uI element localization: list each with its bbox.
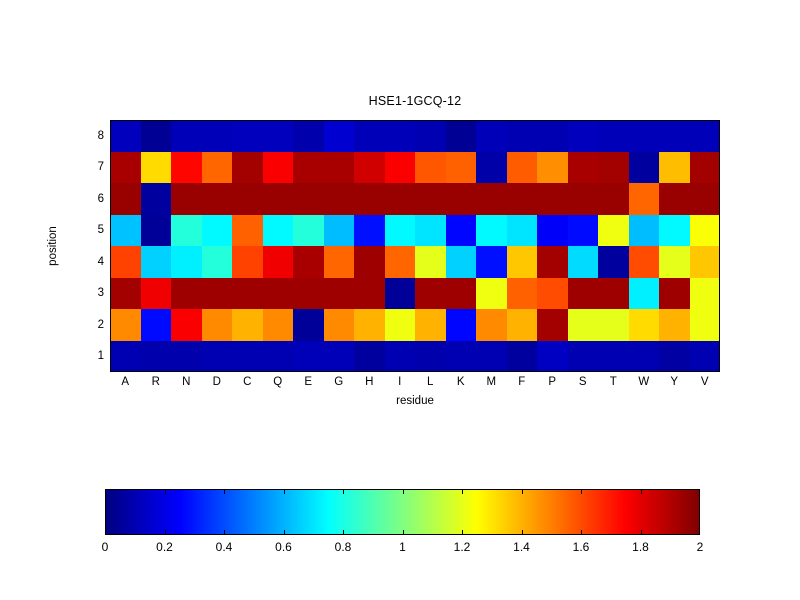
heatmap-cell [141,183,172,215]
heatmap-cell [354,215,385,247]
y-tick-label: 7 [84,161,104,173]
heatmap-cell [385,278,416,310]
heatmap-cell [232,341,263,373]
heatmap-cell [690,278,721,310]
heatmap-cell [629,341,660,373]
heatmap-cell [568,246,599,278]
heatmap-cell [263,278,294,310]
heatmap-cell [293,183,324,215]
y-tick-label: 2 [84,319,104,331]
heatmap-cell [171,120,202,152]
heatmap-cell [690,246,721,278]
heatmap-cell [110,341,141,373]
heatmap-cell [568,183,599,215]
x-tick-label: L [415,376,446,392]
x-tick-label: P [537,376,568,392]
heatmap-cell [598,278,629,310]
heatmap-cell [385,215,416,247]
colorbar-tick-label: 0 [102,540,109,554]
x-tick-label: H [354,376,385,392]
x-tick-label: C [232,376,263,392]
chart-title: HSE1-1GCQ-12 [110,94,720,108]
heatmap-cell [598,120,629,152]
heatmap-cell [385,152,416,184]
heatmap-cell [232,120,263,152]
heatmap-cell [629,215,660,247]
heatmap-cell [659,341,690,373]
heatmap-cell [263,215,294,247]
heatmap-cell [598,341,629,373]
y-tick-label: 8 [84,130,104,142]
heatmap-cell [476,341,507,373]
x-tick-label: E [293,376,324,392]
heatmap-cell [537,120,568,152]
colorbar-tick-label: 1.2 [454,540,471,554]
heatmap-cell [476,215,507,247]
y-tick-label: 3 [84,287,104,299]
heatmap-cell [446,152,477,184]
heatmap-cell [659,215,690,247]
heatmap-cell [476,278,507,310]
heatmap-cell [629,309,660,341]
heatmap-cell [629,246,660,278]
x-tick-label: M [476,376,507,392]
heatmap-cell [293,246,324,278]
heatmap-cell [507,278,538,310]
heatmap-cell [385,183,416,215]
heatmap-cell [232,183,263,215]
heatmap-cell [537,152,568,184]
x-tick-label: A [110,376,141,392]
heatmap-cell [202,120,233,152]
heatmap-cell [598,246,629,278]
heatmap-cell [476,183,507,215]
heatmap-cell [446,183,477,215]
heatmap-cell [293,341,324,373]
colorbar-tick-label: 2 [697,540,704,554]
heatmap-cell [446,309,477,341]
heatmap-cell [659,120,690,152]
heatmap-cell [659,183,690,215]
heatmap-cell [415,120,446,152]
heatmap-cell [141,215,172,247]
heatmap-cell [232,152,263,184]
heatmap-cell [202,278,233,310]
heatmap-cell [385,120,416,152]
heatmap-cell [507,215,538,247]
x-tick-label: R [141,376,172,392]
heatmap-cell [202,309,233,341]
heatmap-cell [537,278,568,310]
heatmap-cell [324,341,355,373]
heatmap-cell [354,183,385,215]
heatmap-cell [415,183,446,215]
heatmap-cell [690,309,721,341]
heatmap-cell [507,183,538,215]
heatmap-cell [141,341,172,373]
heatmap-cell [629,152,660,184]
heatmap-cell [415,215,446,247]
heatmap-cell [263,183,294,215]
heatmap-cell [385,309,416,341]
heatmap-cell [171,309,202,341]
heatmap-cell [293,120,324,152]
heatmap-cell [171,215,202,247]
heatmap-cell [446,246,477,278]
y-tick-label: 1 [84,350,104,362]
heatmap-cell [202,215,233,247]
x-tick-label: I [385,376,416,392]
heatmap-cell [537,309,568,341]
heatmap-cell [324,215,355,247]
heatmap-cell [293,215,324,247]
heatmap-grid [110,120,720,372]
heatmap-cell [324,309,355,341]
heatmap-cell [263,341,294,373]
heatmap-cell [293,152,324,184]
heatmap-cell [598,152,629,184]
heatmap-cell [568,278,599,310]
y-tick-label: 5 [84,224,104,236]
heatmap-cell [293,278,324,310]
heatmap-cell [659,246,690,278]
heatmap-cell [629,183,660,215]
heatmap-cell [110,120,141,152]
colorbar[interactable] [105,489,700,535]
heatmap-cell [202,183,233,215]
colorbar-tick-label: 1 [399,540,406,554]
heatmap-cell [415,246,446,278]
heatmap-cell [171,183,202,215]
x-tick-label: V [690,376,721,392]
heatmap-cell [690,152,721,184]
colorbar-gradient [105,489,700,535]
x-tick-label: N [171,376,202,392]
heatmap-cell [110,309,141,341]
heatmap-cell [202,341,233,373]
heatmap-cell [690,215,721,247]
heatmap-cell [263,120,294,152]
heatmap-cell [232,246,263,278]
heatmap-cell [415,152,446,184]
heatmap-cell [446,215,477,247]
heatmap-cell [141,152,172,184]
heatmap-cell [446,341,477,373]
x-tick-label: D [202,376,233,392]
heatmap-cell [537,341,568,373]
colorbar-tick-label: 0.2 [156,540,173,554]
heatmap-cell [446,278,477,310]
heatmap-cell [141,120,172,152]
heatmap[interactable] [110,120,720,372]
heatmap-cell [507,341,538,373]
heatmap-cell [324,183,355,215]
heatmap-cell [232,309,263,341]
heatmap-cell [415,341,446,373]
x-tick-label: K [446,376,477,392]
x-tick-label: W [629,376,660,392]
heatmap-cell [507,152,538,184]
heatmap-cell [659,152,690,184]
heatmap-cell [568,215,599,247]
heatmap-cell [171,246,202,278]
y-axis-label: position [47,226,59,266]
heatmap-cell [354,246,385,278]
heatmap-cell [385,246,416,278]
heatmap-cell [263,246,294,278]
y-tick-label: 4 [84,256,104,268]
y-tick-label: 6 [84,193,104,205]
heatmap-cell [110,278,141,310]
heatmap-cell [598,215,629,247]
heatmap-cell [507,309,538,341]
heatmap-cell [202,152,233,184]
heatmap-cell [232,215,263,247]
heatmap-cell [598,309,629,341]
heatmap-cell [354,341,385,373]
colorbar-tick-label: 1.6 [573,540,590,554]
heatmap-cell [568,152,599,184]
heatmap-cell [690,341,721,373]
heatmap-cell [141,309,172,341]
heatmap-cell [324,120,355,152]
heatmap-cell [537,215,568,247]
heatmap-cell [110,183,141,215]
heatmap-cell [690,120,721,152]
colorbar-tick-label: 0.4 [216,540,233,554]
heatmap-cell [537,246,568,278]
heatmap-cell [659,309,690,341]
heatmap-cell [446,120,477,152]
heatmap-cell [354,278,385,310]
x-tick-label: G [324,376,355,392]
heatmap-cell [110,215,141,247]
x-axis-ticks: ARNDCQEGHILKMFPSTWYV [110,376,720,392]
x-tick-label: Y [659,376,690,392]
heatmap-cell [354,120,385,152]
heatmap-cell [354,309,385,341]
heatmap-cell [171,152,202,184]
heatmap-cell [476,309,507,341]
heatmap-cell [629,278,660,310]
heatmap-cell [568,341,599,373]
heatmap-cell [324,246,355,278]
heatmap-cell [629,120,660,152]
figure-canvas: HSE1-1GCQ-12 position 87654321 ARNDCQEGH… [0,0,800,600]
colorbar-tick-label: 1.8 [632,540,649,554]
x-tick-label: T [598,376,629,392]
heatmap-cell [293,309,324,341]
heatmap-cell [263,152,294,184]
heatmap-cell [324,278,355,310]
heatmap-cell [568,120,599,152]
colorbar-tick-label: 1.4 [513,540,530,554]
heatmap-cell [324,152,355,184]
heatmap-cell [415,309,446,341]
heatmap-cell [690,183,721,215]
heatmap-cell [354,152,385,184]
heatmap-cell [171,341,202,373]
heatmap-cell [659,278,690,310]
heatmap-cell [202,246,233,278]
heatmap-cell [507,120,538,152]
heatmap-cell [141,278,172,310]
heatmap-cell [507,246,538,278]
x-tick-label: Q [263,376,294,392]
colorbar-tick-label: 0.8 [335,540,352,554]
heatmap-cell [385,341,416,373]
colorbar-tick-label: 0.6 [275,540,292,554]
heatmap-cell [263,309,294,341]
heatmap-cell [598,183,629,215]
heatmap-cell [141,246,172,278]
heatmap-cell [476,246,507,278]
heatmap-cell [171,278,202,310]
heatmap-cell [537,183,568,215]
heatmap-cell [110,152,141,184]
heatmap-cell [232,278,263,310]
heatmap-cell [568,309,599,341]
x-tick-label: F [507,376,538,392]
x-tick-label: S [568,376,599,392]
heatmap-cell [415,278,446,310]
y-axis-ticks: 87654321 [82,120,104,372]
x-axis-label: residue [110,395,720,407]
heatmap-cell [476,120,507,152]
heatmap-cell [110,246,141,278]
heatmap-cell [476,152,507,184]
